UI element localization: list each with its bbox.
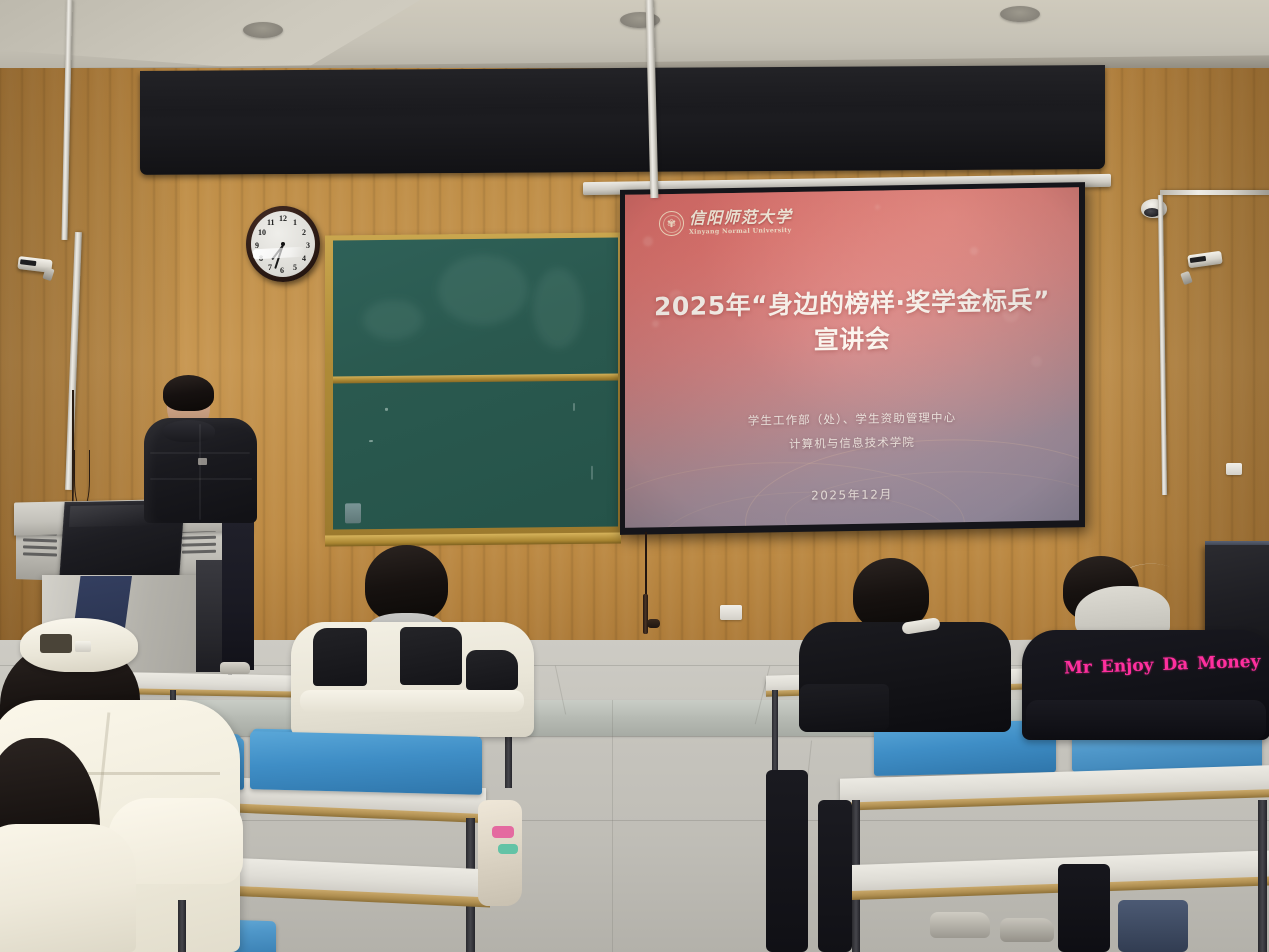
- presenter-jacket-logo: [198, 458, 207, 465]
- chalk-mark: [385, 408, 388, 411]
- lectern-vent-slot: [23, 545, 57, 549]
- clock-numeral: 5: [293, 264, 297, 272]
- bag-accent: [492, 826, 514, 838]
- presenter-collar: [163, 420, 215, 442]
- slide-title-line1: 2025年“身边的榜样·奖学金标兵”: [625, 282, 1079, 325]
- lectern-vent-slot: [182, 536, 216, 539]
- student-shoe: [1000, 918, 1054, 942]
- clock-numeral: 6: [280, 267, 284, 275]
- presenter-jacket-seam: [199, 424, 201, 520]
- clock-numeral: 12: [279, 215, 287, 223]
- slide-title-line2: 宣讲会: [625, 318, 1079, 361]
- chalkboard-eraser[interactable]: [345, 503, 361, 523]
- bag-accent: [498, 844, 518, 854]
- wall-outlet[interactable]: [720, 605, 742, 620]
- clock-numeral: 3: [306, 242, 310, 250]
- student-jacket-black-panel-right: [400, 627, 462, 685]
- banner-gloss: [140, 65, 1105, 110]
- student-jacket-sleeve-band: [300, 690, 524, 712]
- clock-numeral: 7: [268, 264, 272, 272]
- slide-bokeh: [970, 247, 978, 255]
- wall-outlet[interactable]: [1226, 463, 1242, 475]
- chalk-mark: [573, 403, 575, 411]
- speaker-leg: [222, 520, 254, 670]
- print-word-1: Mr: [1064, 658, 1092, 679]
- wall-clock: 12 1 2 3 4 5 6 7 8 9 10 11: [246, 206, 320, 282]
- microphone-cable: [645, 532, 647, 598]
- hanging-microphone: [643, 594, 648, 634]
- clock-numeral: 11: [267, 219, 275, 227]
- presenter-hair: [163, 375, 214, 411]
- presentation-slide: ✾ 信阳师范大学 Xinyang Normal University 2025年…: [625, 187, 1079, 528]
- print-word-3: Da: [1162, 654, 1188, 675]
- student-leg-under-desk: [766, 770, 808, 952]
- slide-title: 2025年“身边的榜样·奖学金标兵” 宣讲会: [625, 282, 1079, 361]
- lectern-vent-slot: [23, 552, 57, 556]
- floor-tile-seam: [612, 700, 613, 952]
- clock-numeral: 10: [258, 229, 266, 237]
- chalk-mark: [369, 440, 373, 442]
- seal-glyph: ✾: [667, 218, 676, 229]
- slide-bokeh: [643, 236, 653, 246]
- recessed-ceiling-light: [1000, 6, 1040, 22]
- chalk-smudge: [363, 300, 423, 341]
- clock-numeral: 1: [293, 219, 297, 227]
- clock-numeral: 2: [302, 229, 306, 237]
- projection-screen: ✾ 信阳师范大学 Xinyang Normal University 2025年…: [620, 182, 1085, 535]
- cap-strap: [40, 634, 72, 653]
- recessed-ceiling-light: [243, 22, 283, 38]
- control-panel-gloss: [69, 504, 154, 527]
- print-word-2: Enjoy: [1100, 655, 1153, 677]
- microphone-head: [647, 619, 660, 628]
- clock-hub: [281, 242, 285, 246]
- classroom-photo: 12 1 2 3 4 5 6 7 8 9 10 11: [0, 0, 1269, 952]
- university-name-en: Xinyang Normal University: [689, 228, 792, 236]
- conduit-pipe-right-horizontal: [1160, 190, 1269, 195]
- student-jacket-lower-band: [1026, 700, 1266, 740]
- student-jacket-black-shoulder: [466, 650, 518, 690]
- print-word-4: Money: [1197, 652, 1261, 674]
- chalk-mark: [591, 466, 593, 480]
- desk-leg: [772, 690, 778, 776]
- student-jacket-body: [0, 824, 136, 952]
- slide-organizers: 学生工作部（处）、学生资助管理中心 计算机与信息技术学院: [625, 403, 1079, 459]
- university-name-cn: 信阳师范大学: [689, 209, 792, 227]
- university-seal-icon: ✾: [659, 211, 684, 236]
- student-hair: [365, 545, 448, 622]
- student-arm: [799, 684, 889, 730]
- slide-bokeh: [875, 205, 880, 210]
- clock-glare: [253, 247, 305, 260]
- slide-bokeh: [1031, 356, 1042, 367]
- chalkboard: [325, 232, 621, 538]
- clock-face: 12 1 2 3 4 5 6 7 8 9 10 11: [251, 211, 315, 277]
- chalk-smudge: [533, 268, 583, 349]
- student-hair: [853, 558, 929, 630]
- student-leg-under-desk: [818, 800, 852, 952]
- lectern-vent-slot: [182, 550, 216, 553]
- student-shoe: [930, 912, 990, 938]
- chalk-smudge: [438, 254, 528, 325]
- desk-leg: [178, 900, 186, 952]
- presenter-jacket-seam: [150, 478, 252, 480]
- university-logo-text: 信阳师范大学 Xinyang Normal University: [689, 209, 792, 235]
- chair-backrest[interactable]: [250, 731, 482, 795]
- student-leg-right: [1058, 864, 1110, 952]
- cap-buckle: [75, 641, 91, 652]
- chalkboard-mid-rail: [333, 373, 618, 383]
- lectern-vent-slot: [182, 543, 216, 546]
- speaker-shoe: [220, 662, 250, 674]
- university-logo: ✾ 信阳师范大学 Xinyang Normal University: [659, 209, 792, 236]
- student-trouser: [1118, 900, 1188, 952]
- desk-leg: [1258, 800, 1267, 952]
- dark-banner-panel: [140, 65, 1105, 175]
- student-jacket-black-panel-left: [313, 628, 367, 686]
- chalkboard-surface: [333, 237, 618, 529]
- lectern-vent-slot: [23, 538, 57, 542]
